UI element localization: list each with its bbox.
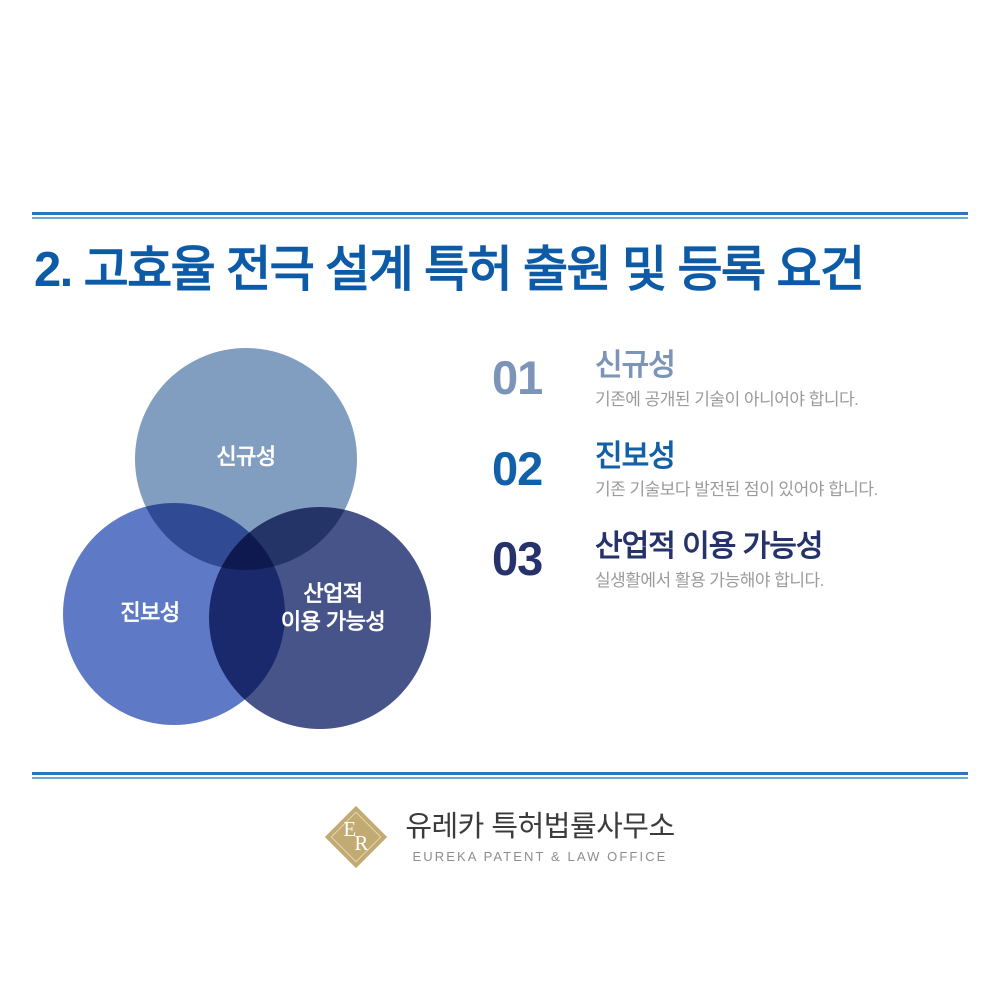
divider-bottom [32,772,968,780]
requirements-list: 01 신규성 기존에 공개된 기술이 아니어야 합니다. 02 진보성 기존 기… [492,348,962,620]
requirement-number-01: 01 [492,348,595,401]
monogram-letters: E R [325,806,387,868]
requirement-body-03: 산업적 이용 가능성 실생활에서 활용 가능해야 합니다. [595,529,962,593]
venn-diagram: 신규성 진보성 산업적 이용 가능성 [55,340,445,740]
monogram-letter-r: R [354,833,368,854]
page-title: 2. 고효율 전극 설계 특허 출원 및 등록 요건 [34,243,974,298]
requirement-body-02: 진보성 기존 기술보다 발전된 점이 있어야 합니다. [595,439,962,503]
slide-root: 2. 고효율 전극 설계 특허 출원 및 등록 요건 신규성 진보성 산업적 이… [0,0,1000,1000]
requirement-heading-01: 신규성 [595,348,962,385]
divider-bottom-thin-line [32,777,968,779]
requirement-description-03: 실생활에서 활용 가능해야 합니다. [595,570,962,593]
requirement-description-02: 기존 기술보다 발전된 점이 있어야 합니다. [595,479,962,502]
requirement-item-03: 03 산업적 이용 가능성 실생활에서 활용 가능해야 합니다. [492,529,962,593]
firm-name-english: EUREKA PATENT & LAW OFFICE [405,849,674,865]
requirement-description-01: 기존에 공개된 기술이 아니어야 합니다. [595,389,962,412]
divider-top [32,212,968,220]
requirement-number-03: 03 [492,529,595,582]
logo-text: 유레카 특허법률사무소 EUREKA PATENT & LAW OFFICE [405,810,674,864]
venn-label-inventive-step: 진보성 [89,599,211,627]
venn-label-novelty: 신규성 [185,443,307,471]
divider-bottom-thick-line [32,772,968,775]
footer: E R 유레카 특허법률사무소 EUREKA PATENT & LAW OFFI… [0,806,1000,868]
divider-top-thin-line [32,217,968,219]
requirement-heading-02: 진보성 [595,439,962,476]
requirement-number-02: 02 [492,439,595,492]
requirement-item-01: 01 신규성 기존에 공개된 기술이 아니어야 합니다. [492,348,962,412]
requirement-heading-03: 산업적 이용 가능성 [595,529,962,566]
diamond-monogram-icon: E R [325,806,387,868]
venn-label-industrial-applicability: 산업적 이용 가능성 [253,580,413,636]
requirement-body-01: 신규성 기존에 공개된 기술이 아니어야 합니다. [595,348,962,412]
logo: E R 유레카 특허법률사무소 EUREKA PATENT & LAW OFFI… [325,806,674,868]
firm-name-korean: 유레카 특허법률사무소 [405,810,674,845]
divider-top-thick-line [32,212,968,215]
requirement-item-02: 02 진보성 기존 기술보다 발전된 점이 있어야 합니다. [492,439,962,503]
